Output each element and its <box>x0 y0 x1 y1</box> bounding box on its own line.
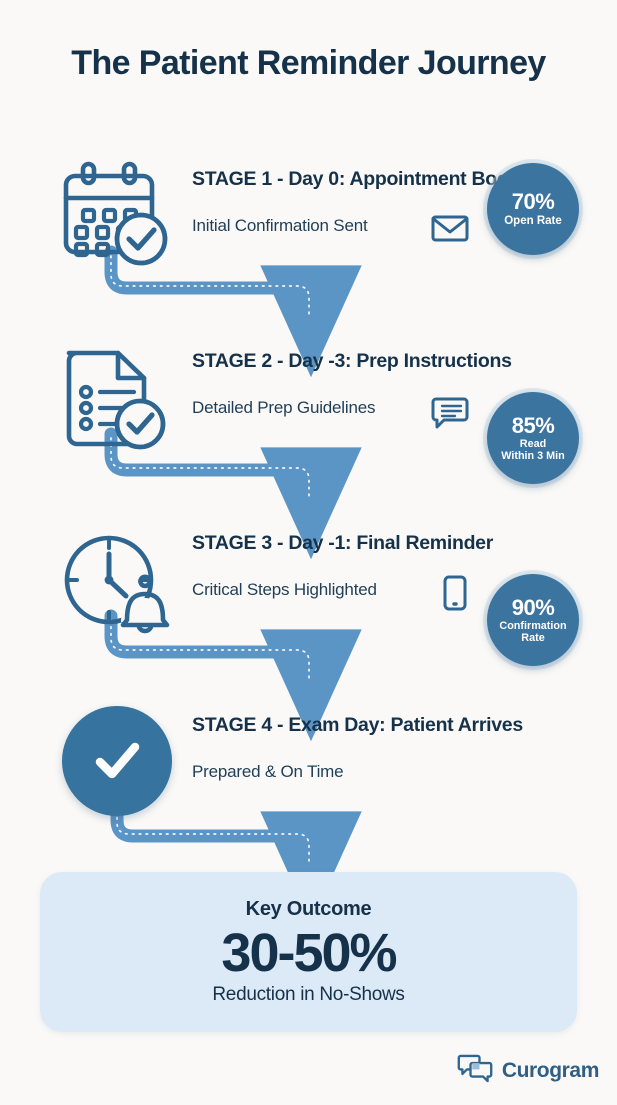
stage-2-subtitle: Detailed Prep Guidelines <box>192 398 375 418</box>
stage-1-subtitle: Initial Confirmation Sent <box>192 216 367 236</box>
outcome-description: Reduction in No-Shows <box>212 984 404 1006</box>
outcome-value: 30-50% <box>221 923 395 983</box>
badge-label-line-1: Confirmation <box>495 620 570 632</box>
infographic-page: The Patient Reminder Journey <box>0 0 617 1105</box>
footer-brand: Curogram <box>457 1053 599 1089</box>
stage-3-subtitle: Critical Steps Highlighted <box>192 580 377 600</box>
checkmark-circle-filled-icon <box>62 706 172 816</box>
calendar-check-icon <box>58 160 176 270</box>
stage-2-heading: STAGE 2 - Day -3: Prep Instructions <box>192 350 512 373</box>
stage-3-heading: STAGE 3 - Day -1: Final Reminder <box>192 532 493 555</box>
brand-name: Curogram <box>502 1059 599 1083</box>
badge-value: 85% <box>512 414 555 439</box>
outcome-label: Key Outcome <box>246 898 372 921</box>
stage-1-heading: STAGE 1 - Day 0: Appointment Booked <box>192 168 541 191</box>
mobile-phone-icon <box>432 570 476 614</box>
stage-1-stat-badge: 70% Open Rate <box>487 163 579 255</box>
document-checklist-check-icon <box>58 342 176 452</box>
stage-3-stat-badge: 90% Confirmation Rate <box>487 574 579 666</box>
badge-value: 70% <box>512 190 555 215</box>
connector-4 <box>117 800 311 866</box>
badge-label-line-2: Rate <box>517 632 548 644</box>
chat-bubbles-logo-icon <box>457 1053 493 1089</box>
envelope-icon <box>428 206 472 250</box>
badge-value: 90% <box>512 596 555 621</box>
stage-4-heading: STAGE 4 - Exam Day: Patient Arrives <box>192 714 523 737</box>
speech-bubble-icon <box>428 388 472 432</box>
key-outcome-panel: Key Outcome 30-50% Reduction in No-Shows <box>40 872 577 1032</box>
page-title: The Patient Reminder Journey <box>0 44 617 83</box>
stage-2-stat-badge: 85% Read Within 3 Min <box>487 392 579 484</box>
badge-label-line-1: Read <box>516 438 550 450</box>
stage-4-subtitle: Prepared & On Time <box>192 762 343 782</box>
clock-bell-icon <box>58 524 176 634</box>
badge-label-line-2: Within 3 Min <box>497 450 568 462</box>
badge-label: Open Rate <box>500 215 566 228</box>
